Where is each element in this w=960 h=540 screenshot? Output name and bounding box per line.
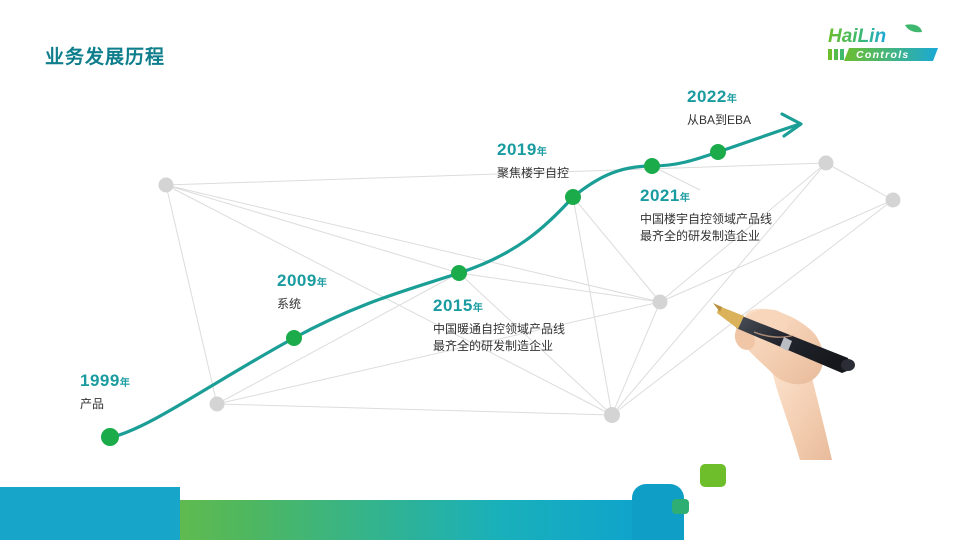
milestone-2022[interactable]: 2022年 从BA到EBA bbox=[687, 88, 751, 129]
milestone-2015[interactable]: 2015年 中国暖通自控领域产品线 最齐全的研发制造企业 bbox=[433, 297, 565, 355]
milestone-dot-2019[interactable] bbox=[565, 189, 581, 205]
milestone-desc: 系统 bbox=[277, 296, 327, 313]
milestone-1999[interactable]: 1999年 产品 bbox=[80, 372, 130, 413]
bottom-blue-block bbox=[0, 487, 180, 540]
hand-with-pen-image bbox=[700, 285, 910, 460]
milestone-dot-2021[interactable] bbox=[644, 158, 660, 174]
hand-with-pen-svg bbox=[700, 285, 910, 460]
milestone-desc: 中国楼宇自控领域产品线 最齐全的研发制造企业 bbox=[640, 211, 772, 246]
milestone-desc: 从BA到EBA bbox=[687, 112, 751, 129]
milestone-year: 1999年 bbox=[80, 372, 130, 391]
curve-arrowhead bbox=[782, 114, 801, 136]
milestone-dot-1999[interactable] bbox=[101, 428, 119, 446]
milestone-year: 2015年 bbox=[433, 297, 565, 316]
milestone-2021[interactable]: 2021年 中国楼宇自控领域产品线 最齐全的研发制造企业 bbox=[640, 187, 772, 245]
milestone-dot-2022[interactable] bbox=[710, 144, 726, 160]
milestone-dot-2009[interactable] bbox=[286, 330, 302, 346]
slide-canvas: 业务发展历程 HaiLin C bbox=[0, 0, 960, 540]
growth-curve bbox=[112, 125, 797, 437]
milestone-2019[interactable]: 2019年 聚焦楼宇自控 bbox=[497, 141, 569, 182]
milestone-year: 2021年 bbox=[640, 187, 772, 206]
milestone-year: 2009年 bbox=[277, 272, 327, 291]
milestone-year: 2022年 bbox=[687, 88, 751, 107]
milestone-year: 2019年 bbox=[497, 141, 569, 160]
milestone-desc: 产品 bbox=[80, 396, 130, 413]
milestone-dots bbox=[101, 144, 726, 446]
milestone-desc: 中国暖通自控领域产品线 最齐全的研发制造企业 bbox=[433, 321, 565, 356]
milestone-2009[interactable]: 2009年 系统 bbox=[277, 272, 327, 313]
milestone-dot-2015[interactable] bbox=[451, 265, 467, 281]
milestone-desc: 聚焦楼宇自控 bbox=[497, 165, 569, 182]
bottom-green-small-square bbox=[672, 499, 689, 514]
pen-end bbox=[841, 359, 855, 371]
bottom-green-square bbox=[700, 464, 726, 487]
